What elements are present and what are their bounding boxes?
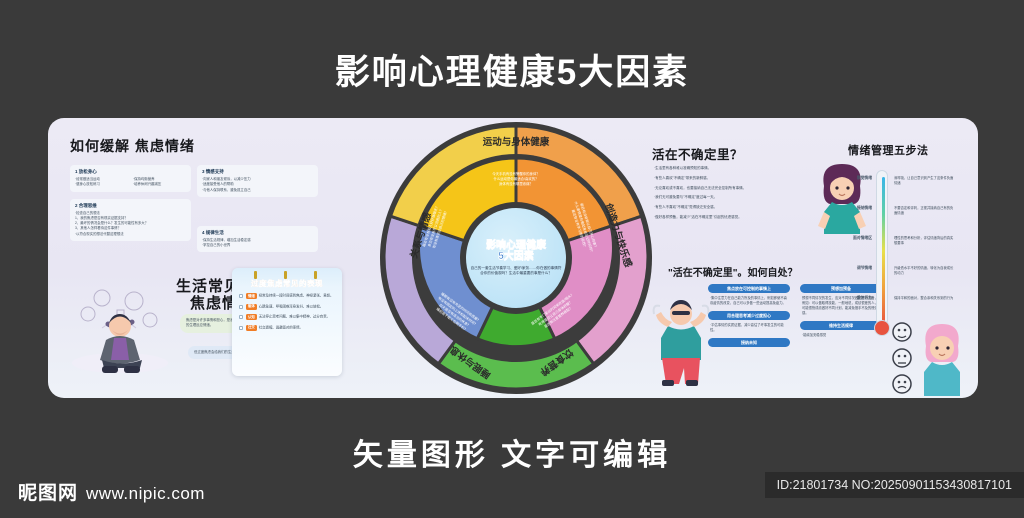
page-title: 影响心理健康5大因素 [0,44,1024,95]
checklist-item-text: 社交退缩、逃避面对的事情。 [259,325,303,329]
wheel-label-exercise: 运动与身体健康 [483,134,550,148]
anxious-person-illustration [62,268,172,378]
pill-maintain-routine[interactable]: 维持生活规律 [800,321,882,330]
step-key: 面对情绪区 [846,236,872,241]
status-badge: 社交 [246,325,257,331]
five-factor-wheel: 运动与身体健康 创造力与快乐感 饮食营养 睡眠与休息 关系与情感 今天手机有没有… [378,120,654,396]
list-item: ·有些人喜欢"不确定"带来的新鲜感。 [654,176,804,181]
tip-line: ·掌控自己的小世界 [202,243,313,248]
brand-url: www.nipic.com [86,484,205,504]
clip-icon [284,271,287,279]
step-key: 察觉情绪 [846,176,872,181]
step-text: 深呼吸，让自己意识到产生了这条件负面情绪 [894,176,954,186]
wheel-bullet: 身体有没有哪里疼痛？ [492,182,539,187]
pill-body: ·能增加安稳感觉 [802,333,880,338]
list-item: ·生活里有各种难以准确预知的事情。 [654,166,804,171]
wheel-center: 影响心理健康 5大因素 自己的一套生活节奏学习、爱好/家务……你在做的事情符合你… [464,206,568,310]
pill-rational-thinking[interactable]: 用合理思考减少过度担心 [708,311,790,320]
woman-illustration [810,160,874,234]
checklist-item-text: 心跳急速、呼吸困难浑身发抖、难以放松。 [259,304,323,308]
status-badge: 情绪 [246,293,257,299]
wheel-center-title-1: 影响心理健康 [486,240,546,252]
wheel-bullets-exercise: 今天手机有没有警醒你的身体？ 什么运动是你最适合/喜欢的？ 身体有没有哪里疼痛？ [492,172,539,187]
brand-name-zh: 昵图网 [18,478,78,505]
list-item[interactable]: 躯体心跳急速、呼吸困难浑身发抖、难以放松。 [239,304,335,310]
list-item: ·无论喜欢或不喜欢，也要接纳自己无法完全控制所有事情。 [654,186,804,191]
right-mid-left-column: 焦点放在可控制的事情上 ·集中注意力在自己能力所及的事情上，例如即使不喜欢疫情的… [708,284,790,347]
pill-body: ·集中注意力在自己能力所及的事情上，例如即使不喜欢疫情的改变，自己可以多做一些运… [710,296,788,306]
list-item[interactable]: 情绪经常及持续一段时间感到焦虑、神经紧张、易怒。 [239,293,335,299]
checkbox[interactable] [239,305,243,309]
checklist-card: 过度焦虑常见的表现 情绪经常及持续一段时间感到焦虑、神经紧张、易怒。 躯体心跳急… [232,268,342,376]
step-text: 理性的思考和分析，评估情绪背后的真实想要事 [894,236,954,246]
tip-heading: 1 放松身心 [75,169,186,175]
right-top-list: ·生活里有各种难以准确预知的事情。 ·有些人喜欢"不确定"带来的新鲜感。 ·无论… [654,166,804,225]
tip-line: ·健身心放松练习 [75,182,128,187]
tip-line: ·与他人保持联系，避免孤立自己 [202,188,313,193]
stressed-man-illustration [648,294,714,386]
pill-accept-unknown[interactable]: 接纳未知 [708,338,790,347]
status-badge: 认知 [246,314,257,320]
tip-line: ·以符合现实的想法代替这理想法 [75,232,186,237]
thermometer-fill [882,177,885,325]
pill-anticipate-prepare[interactable]: 预想加预备 [800,284,882,293]
brand-watermark: 昵图网 www.nipic.com [18,478,205,505]
list-item: ·做好各样预备，能减少"活在不确定里"引起的忧虑感觉。 [654,215,804,220]
right-top-title: 活在不确定里？ [652,144,743,163]
list-item: ·我们无可避免要与"不确定"度过每一天。 [654,195,804,200]
step-text: 保持平和的面对，整合亲和关系到的行为 [894,296,954,301]
pill-focus-controllable[interactable]: 焦点放在可控制的事情上 [708,284,790,293]
wheel-center-title-2: 5大因素 [498,251,534,263]
step-key: 调节情绪 [846,266,872,271]
footer-tagline: 矢量图形 文字可编辑 [0,430,1024,474]
poster-canvas: 影响心理健康5大因素 如何缓解 焦虑情绪 1 放松身心 ·经常做适当运动 ·健身… [0,0,1024,518]
thermometer-track [876,170,888,326]
tip-card-routine: 4 规律生活 ·保持生活规律，增加生活稳定感 ·掌控自己的小世界 [197,226,318,253]
checklist-item-text: 经常及持续一段时间感到焦虑、神经紧张、易怒。 [259,294,334,298]
clip-icon [314,271,317,279]
wheel-center-subtitle: 自己的一套生活节奏学习、爱好/家务……你在做的事情符合你的价值观吗？生活中最重要… [470,266,562,276]
list-item[interactable]: 社交社交退缩、逃避面对的事情。 [239,325,335,331]
step-key: 接纳情绪 [846,206,872,211]
tip-line: ·培养休闲兴趣减压 [133,182,186,187]
checkbox[interactable] [239,294,243,298]
checklist-title: 过度焦虑常见的表现 [239,278,335,289]
left-top-section: 如何缓解 焦虑情绪 1 放松身心 ·经常做适当运动 ·健身心放松练习 ·保持均衡… [70,136,318,252]
checkbox[interactable] [239,326,243,330]
tip-heading: 2 合理思维 [75,203,186,209]
tip-card-relax: 1 放松身心 ·经常做适当运动 ·健身心放松练习 ·保持均衡营养 ·培养休闲兴趣… [70,165,191,192]
step-text: 升级低水平不好的情绪，转化为自我成长的动力 [894,266,954,276]
checklist-item-text: 无法停止思考问题、难以集中精神、过分自责。 [259,315,330,319]
step-key: 重复行为 [846,296,872,301]
tip-card-thinking: 2 合理思维 ·检查自己的想法 1、我的焦虑是否有现实证据支持？ 2、最坏的情况… [70,199,191,241]
tip-heading: 3 情感支持 [202,169,313,175]
right-mid-right-column: 预想加预备 预想不同情况的发生，应对不同情况做好不同准备，例如：可以做取得技能，… [800,284,882,344]
right-steps-title: 情绪管理五步法 [848,142,929,158]
poster-panel: 如何缓解 焦虑情绪 1 放松身心 ·经常做适当运动 ·健身心放松练习 ·保持均衡… [48,118,978,398]
checkbox[interactable] [239,315,243,319]
clip-icon [254,271,257,279]
step-text: 不要否定和评判，正视并接纳自己有的负面情绪 [894,206,954,216]
pill-body: ·平估事情的实质证据，减少高估了坏事发生的可能性。 [710,323,788,333]
list-item[interactable]: 认知无法停止思考问题、难以集中精神、过分自责。 [239,314,335,320]
left-top-title: 如何缓解 焦虑情绪 [70,136,318,156]
status-badge: 躯体 [246,304,257,310]
tip-card-support: 3 情感支持 ·向家人和朋友倾诉，以减少压力 ·适度接受他人的帮助 ·与他人保持… [197,165,318,197]
list-item: ·有些人不喜欢"不确定"觉得缺乏安全感。 [654,205,804,210]
tip-heading: 4 规律生活 [202,230,313,236]
emotion-faces-illustration [888,318,972,396]
asset-id-badge: ID:21801734 NO:20250901153430817101 [765,472,1024,498]
right-mid-title: "活在不确定里"。如何自处？ [668,264,797,279]
